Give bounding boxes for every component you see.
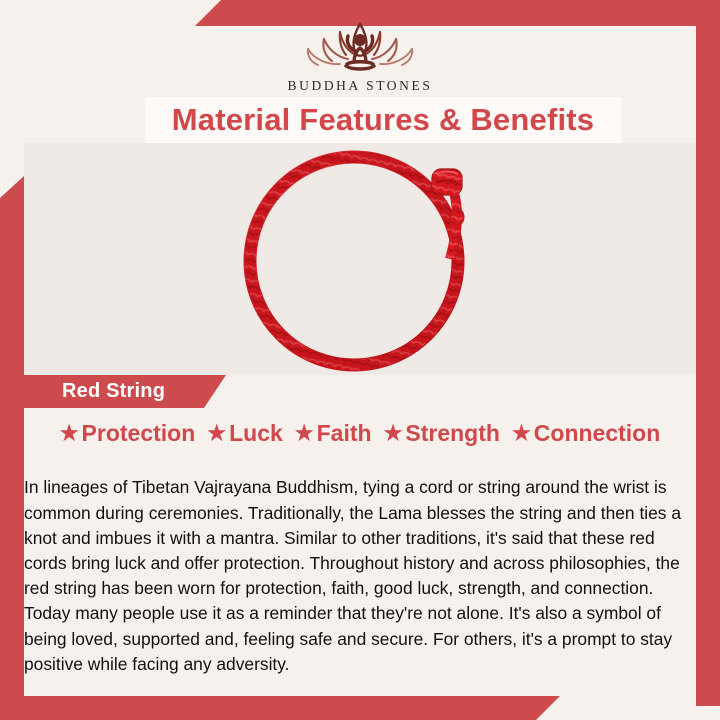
product-name-banner: Red String	[0, 375, 226, 408]
frame-right-bar	[696, 0, 720, 706]
keyword-luck: ★ Luck	[203, 420, 287, 447]
keyword-label: Luck	[229, 420, 283, 447]
keyword-strength: ★ Strength	[380, 420, 504, 447]
page-title: Material Features & Benefits	[172, 102, 595, 138]
title-band: Material Features & Benefits	[145, 97, 621, 143]
benefit-keyword-list: ★ Protection ★ Luck ★ Faith ★ Strength ★…	[24, 420, 696, 447]
keyword-label: Strength	[405, 420, 500, 447]
star-icon: ★	[60, 423, 79, 444]
frame-bottom-left-bar	[0, 696, 560, 720]
keyword-label: Connection	[534, 420, 661, 447]
brand-name: BUDDHA STONES	[0, 78, 720, 94]
brand-logo: BUDDHA STONES	[0, 18, 720, 94]
star-icon: ★	[295, 423, 314, 444]
star-icon: ★	[207, 423, 226, 444]
product-image	[24, 143, 696, 375]
keyword-label: Faith	[317, 420, 372, 447]
keyword-faith: ★ Faith	[291, 420, 376, 447]
frame-left-bar	[0, 176, 24, 720]
keyword-connection: ★ Connection	[508, 420, 664, 447]
keyword-label: Protection	[82, 420, 196, 447]
poster: BUDDHA STONES Material Features & Benefi…	[0, 0, 720, 720]
star-icon: ★	[384, 423, 403, 444]
red-string-bracelet-illustration	[226, 143, 494, 375]
star-icon: ★	[512, 423, 531, 444]
product-name: Red String	[62, 380, 165, 403]
description-text: In lineages of Tibetan Vajrayana Buddhis…	[24, 475, 696, 677]
keyword-protection: ★ Protection	[56, 420, 200, 447]
lotus-meditation-icon	[294, 18, 426, 76]
